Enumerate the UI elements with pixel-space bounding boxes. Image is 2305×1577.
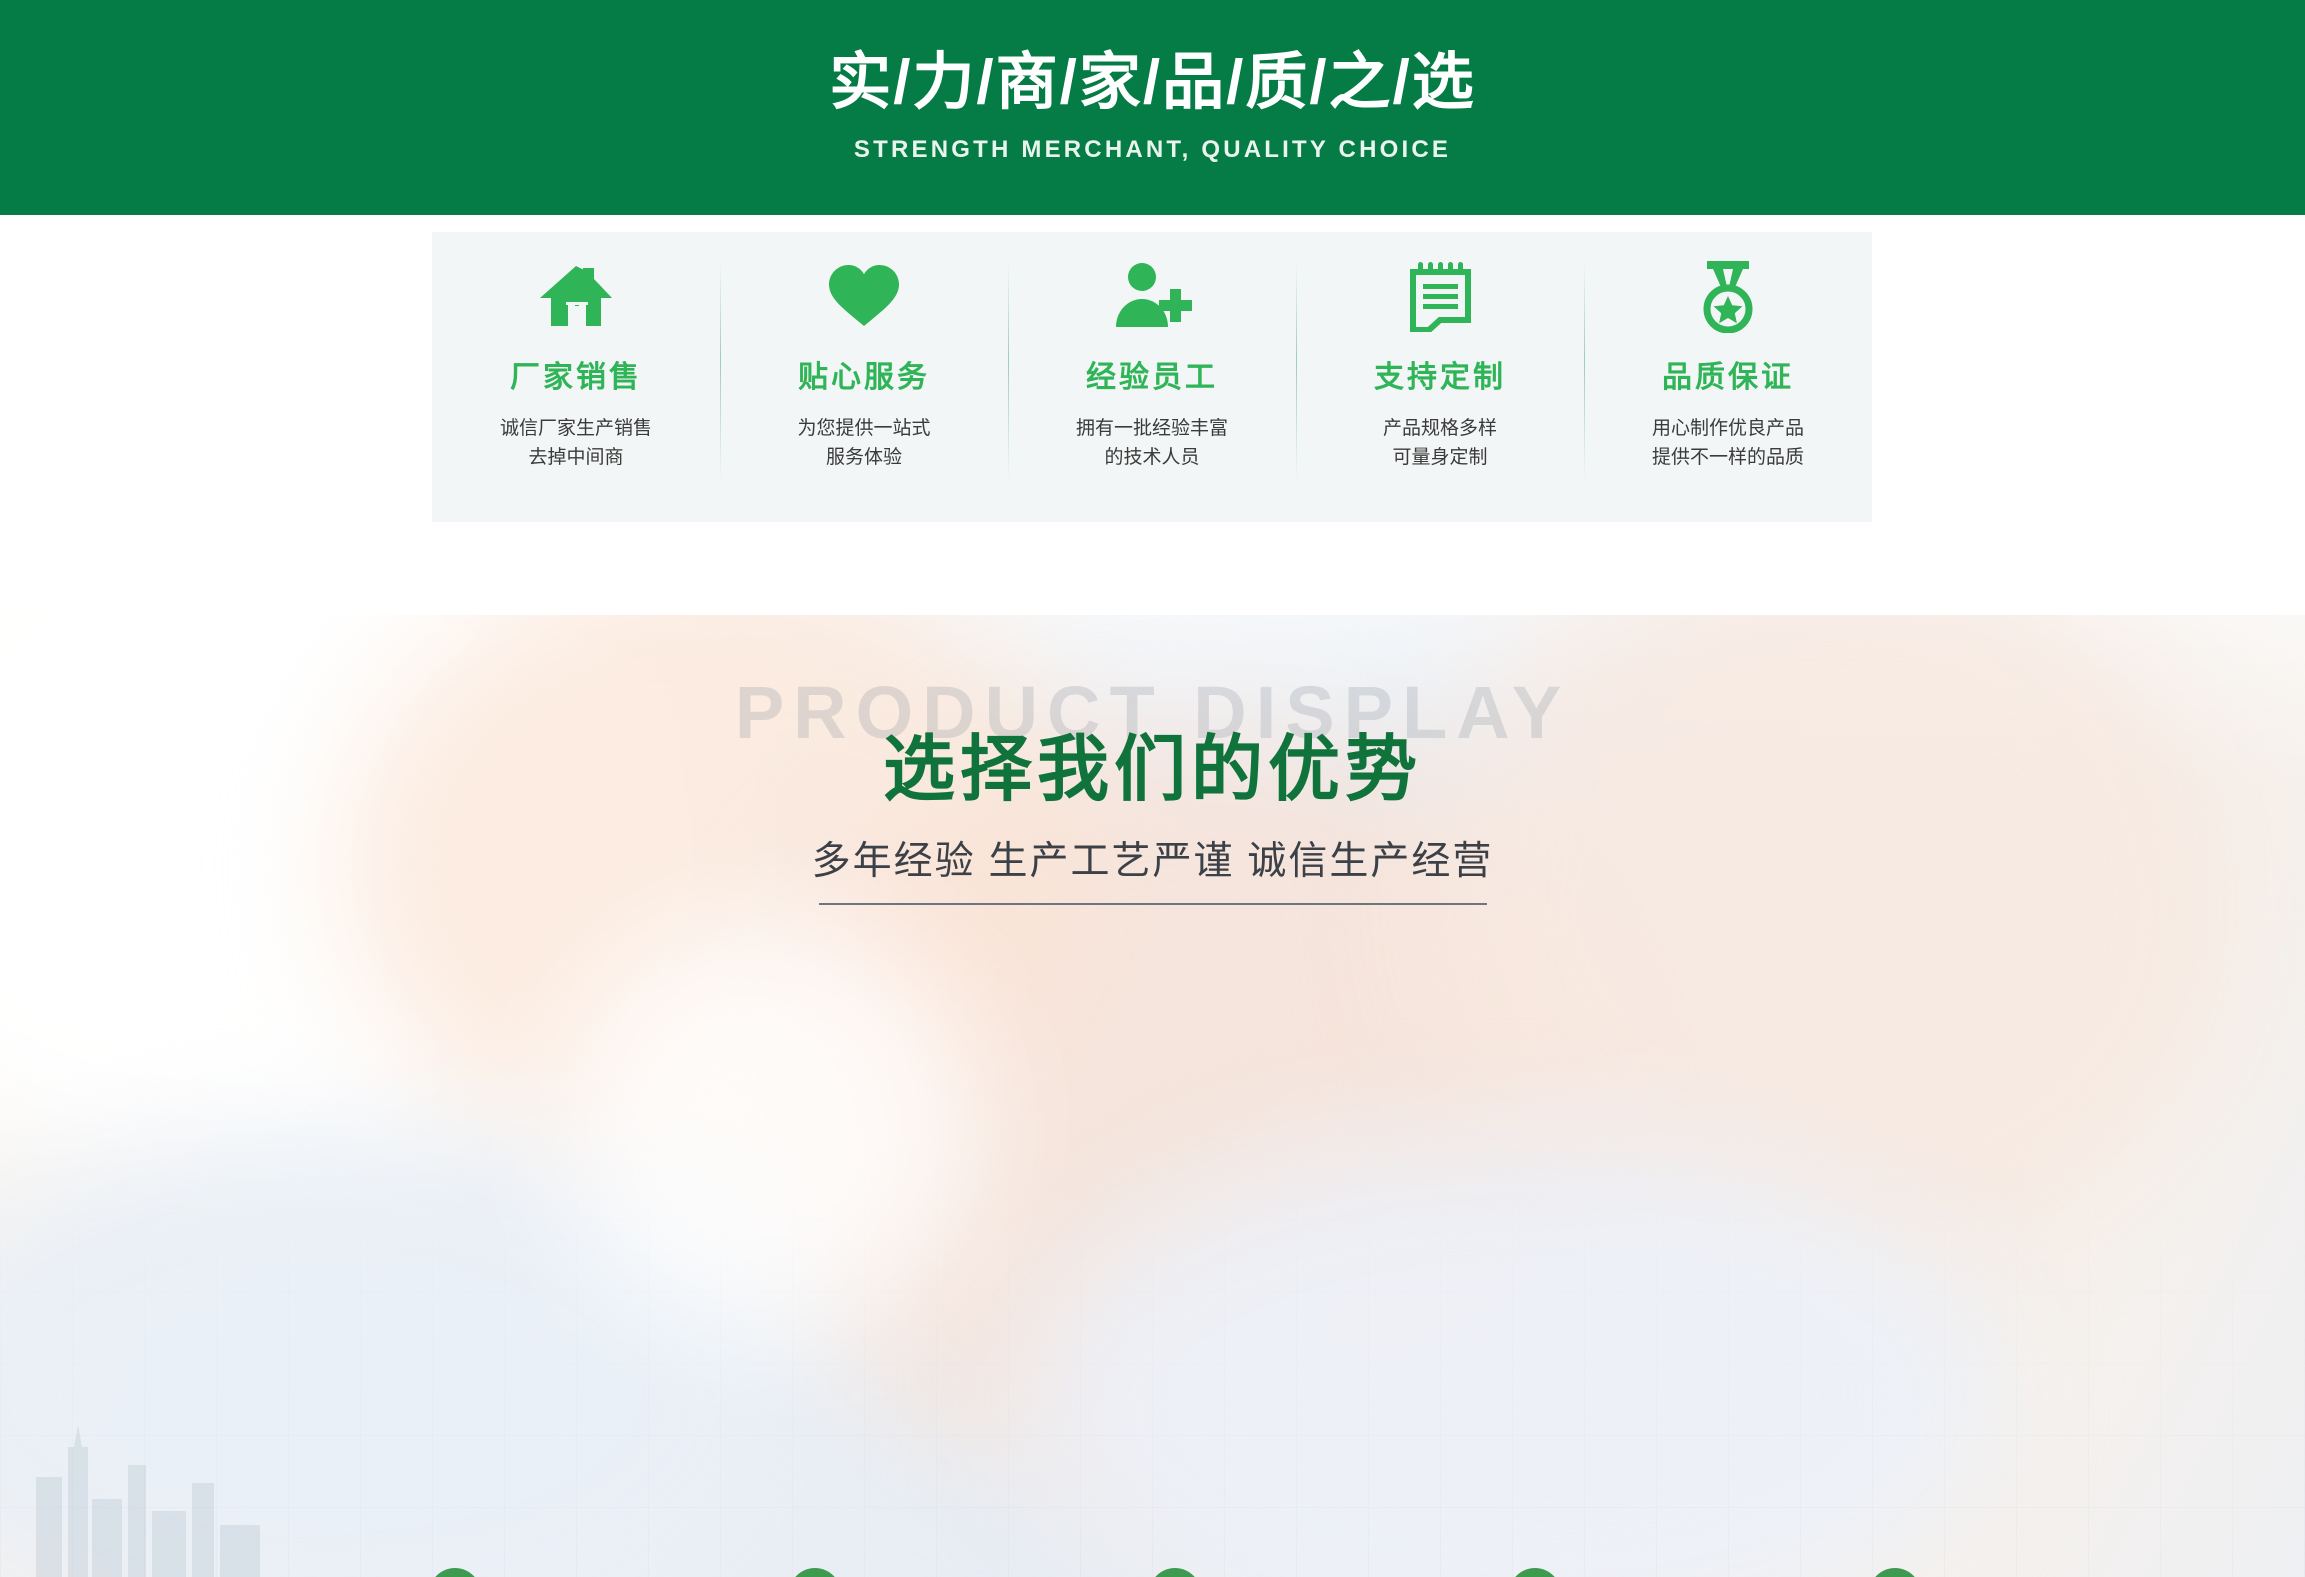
feature-desc: 拥有一批经验丰富 的技术人员 <box>1076 414 1228 473</box>
feature-desc: 用心制作优良产品 提供不一样的品质 <box>1652 414 1804 473</box>
medal-icon <box>1694 258 1762 334</box>
feature-desc: 诚信厂家生产销售 去掉中间商 <box>500 414 652 473</box>
user-plus-icon <box>1112 258 1192 334</box>
feature-title: 支持定制 <box>1374 352 1506 396</box>
advantage-subtitle: 多年经验 生产工艺严谨 诚信生产经营 <box>0 830 2305 886</box>
feature-desc: 产品规格多样 可量身定制 <box>1383 414 1497 473</box>
feature-desc: 为您提供一站式 服务体验 <box>797 414 930 473</box>
notepad-icon <box>1407 258 1473 334</box>
house-icon <box>538 258 614 334</box>
features-section: 厂家销售 诚信厂家生产销售 去掉中间商 贴心服务 为您提供一站式 服务体验 <box>0 215 2305 615</box>
feature-item-manufacturer-sales[interactable]: 厂家销售 诚信厂家生产销售 去掉中间商 <box>432 232 720 522</box>
feature-item-attentive-service[interactable]: 贴心服务 为您提供一站式 服务体验 <box>720 232 1008 522</box>
feature-item-quality-guarantee[interactable]: 品质保证 用心制作优良产品 提供不一样的品质 <box>1584 232 1872 522</box>
feature-title: 厂家销售 <box>510 352 642 396</box>
hero-subtitle: STRENGTH MERCHANT, QUALITY CHOICE <box>854 136 1451 164</box>
advantage-section: PRODUCT DISPLAY 选择我们的优势 多年经验 生产工艺严谨 诚信生产… <box>0 615 2305 1577</box>
feature-title: 品质保证 <box>1662 352 1794 396</box>
heart-icon <box>827 258 901 334</box>
feature-title: 贴心服务 <box>798 352 930 396</box>
feature-item-experienced-staff[interactable]: 经验员工 拥有一批经验丰富 的技术人员 <box>1008 232 1296 522</box>
city-skyline-watermark <box>30 1407 270 1577</box>
feature-item-customization[interactable]: 支持定制 产品规格多样 可量身定制 <box>1296 232 1584 522</box>
hero-title: 实/力/商/家/品/质/之/选 <box>829 52 1476 114</box>
feature-title: 经验员工 <box>1086 352 1218 396</box>
hero-banner: 实/力/商/家/品/质/之/选 STRENGTH MERCHANT, QUALI… <box>0 0 2305 215</box>
advantage-title: 选择我们的优势 <box>0 710 2305 815</box>
promo-page: 实/力/商/家/品/质/之/选 STRENGTH MERCHANT, QUALI… <box>0 0 2305 1577</box>
blueprint-grid-overlay <box>0 1147 2305 1577</box>
advantage-divider <box>819 903 1487 905</box>
features-card: 厂家销售 诚信厂家生产销售 去掉中间商 贴心服务 为您提供一站式 服务体验 <box>432 232 1872 522</box>
